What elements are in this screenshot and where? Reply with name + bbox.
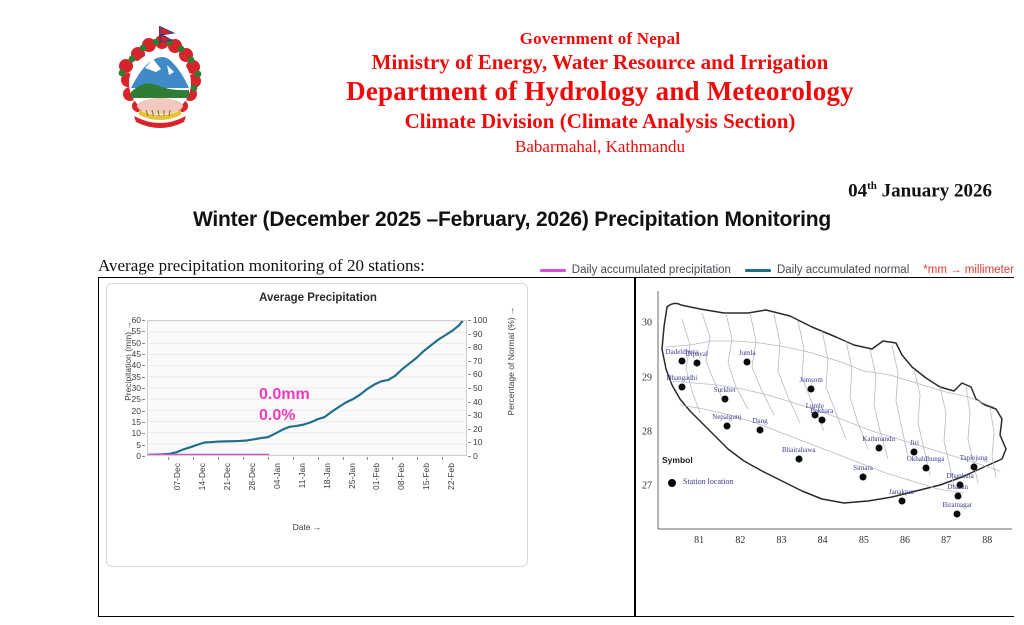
station-label: Jomsom — [799, 376, 822, 384]
org-line-ministry: Ministry of Energy, Water Resource and I… — [250, 49, 950, 75]
station-marker[interactable] — [757, 427, 764, 434]
chart-ytick-right: 100 — [473, 315, 487, 325]
chart-ytick-mark-right — [468, 374, 471, 375]
chart-ytick-right: 0 — [473, 451, 478, 461]
map-xtick-label: 87 — [941, 535, 951, 546]
chart-ytick-mark-right — [468, 429, 471, 430]
station-label: Dhangadhi — [667, 374, 698, 382]
station-label: Dipayal — [686, 350, 708, 358]
nepal-emblem-icon — [112, 22, 208, 142]
org-line-department: Department of Hydrology and Meteorology — [250, 75, 950, 108]
station-label: Surkhet — [714, 386, 736, 394]
chart-xtick-mark — [417, 457, 418, 460]
org-line-division: Climate Division (Climate Analysis Secti… — [250, 108, 950, 135]
frame-divider — [634, 277, 636, 617]
chart-ytick-mark-left — [142, 354, 145, 355]
legend-swatch-normal — [745, 269, 771, 272]
chart-ytick-mark-left — [142, 320, 145, 321]
station-label: Simara — [853, 464, 873, 472]
station-label: Biratnagar — [942, 501, 972, 509]
map-xtick-label: 84 — [818, 535, 828, 546]
map-xtick-label: 83 — [776, 535, 786, 546]
chart-ytick-right: 90 — [473, 329, 482, 339]
station-marker[interactable] — [875, 444, 882, 451]
report-date: 04th January 2026 — [848, 180, 992, 202]
station-marker[interactable] — [795, 455, 802, 462]
map-legend-label: Station location — [683, 477, 733, 486]
chart-ytick-mark-left — [142, 445, 145, 446]
chart-ytick-left: 5 — [136, 440, 141, 450]
chart-ytick-right: 50 — [473, 383, 482, 393]
annotation-percent: 0.0% — [259, 405, 310, 426]
chart-xtick-mark — [343, 457, 344, 460]
chart-xtick-mark — [218, 457, 219, 460]
chart-y-axis-left-title: Precipitation (mm) → — [123, 296, 133, 426]
map-xtick-label: 81 — [694, 535, 704, 546]
chart-xtick-label: 01-Feb — [371, 463, 381, 490]
station-marker[interactable] — [808, 386, 815, 393]
chart-xtick-label: 18-Jan — [322, 463, 332, 489]
station-marker[interactable] — [693, 360, 700, 367]
chart-y-axis-right-title: Percentage of Normal (%) → — [506, 286, 516, 436]
map-legend-title: Symbol — [662, 455, 693, 465]
map-xtick-label: 86 — [900, 535, 910, 546]
annotation-mm: 0.0mm — [259, 384, 310, 405]
report-date-day: 04 — [848, 180, 867, 201]
chart-xtick-mark — [293, 457, 294, 460]
chart-ytick-right: 10 — [473, 437, 482, 447]
chart-xtick-mark — [367, 457, 368, 460]
map-xtick-label: 82 — [735, 535, 745, 546]
station-marker[interactable] — [911, 448, 918, 455]
chart-ytick-mark-left — [142, 399, 145, 400]
legend-item-normal: Daily accumulated normal — [745, 264, 909, 276]
chart-ytick-right: 40 — [473, 397, 482, 407]
station-label: Pokhara — [810, 407, 833, 415]
station-marker[interactable] — [744, 359, 751, 366]
station-marker[interactable] — [721, 396, 728, 403]
station-label: Dhankuta — [947, 472, 974, 480]
chart-ytick-mark-right — [468, 334, 471, 335]
chart-ytick-mark-left — [142, 365, 145, 366]
legend-swatch-precipitation — [540, 269, 566, 272]
station-marker[interactable] — [954, 493, 961, 500]
chart-ytick-mark-right — [468, 347, 471, 348]
legend-label-precipitation: Daily accumulated precipitation — [572, 264, 731, 276]
organization-block: Government of Nepal Ministry of Energy, … — [250, 28, 950, 158]
chart-xtick-mark — [392, 457, 393, 460]
org-line-address: Babarmahal, Kathmandu — [250, 135, 950, 158]
chart-ytick-right: 30 — [473, 410, 482, 420]
stations-summary-label: Average precipitation monitoring of 20 s… — [98, 256, 425, 276]
report-date-suffix: th — [867, 180, 877, 192]
chart-xtick-label: 07-Dec — [172, 463, 182, 490]
chart-ytick-mark-left — [142, 331, 145, 332]
station-marker[interactable] — [898, 498, 905, 505]
chart-ytick-mark-right — [468, 402, 471, 403]
chart-ytick-right: 60 — [473, 369, 482, 379]
unit-note: *mm → millimeter — [923, 264, 1014, 276]
chart-ytick-mark-left — [142, 343, 145, 344]
chart-ytick-mark-left — [142, 388, 145, 389]
chart-ytick-mark-right — [468, 320, 471, 321]
map-xtick-label: 85 — [859, 535, 869, 546]
chart-y-axis-right: 0102030405060708090100 — [468, 314, 508, 462]
station-marker[interactable] — [818, 417, 825, 424]
legend-row: Average precipitation monitoring of 20 s… — [98, 252, 1014, 276]
station-label: Jumla — [739, 349, 756, 357]
map-xtick-label: 88 — [982, 535, 992, 546]
chart-ytick-mark-right — [468, 442, 471, 443]
station-marker[interactable] — [678, 358, 685, 365]
chart-xtick-label: 22-Feb — [446, 463, 456, 490]
chart-xtick-label: 15-Feb — [421, 463, 431, 490]
chart-ytick-mark-right — [468, 415, 471, 416]
station-label: Kathmandu — [862, 435, 895, 443]
chart-ytick-mark-left — [142, 422, 145, 423]
chart-annotation: 0.0mm 0.0% — [259, 384, 310, 426]
chart-xtick-mark — [442, 457, 443, 460]
chart-ytick-right: 20 — [473, 424, 482, 434]
chart-xtick-mark — [168, 457, 169, 460]
chart-xtick-label: 08-Feb — [396, 463, 406, 490]
legend-item-precipitation: Daily accumulated precipitation — [540, 264, 731, 276]
station-marker[interactable] — [723, 423, 730, 430]
chart-xtick-mark — [193, 457, 194, 460]
chart-title: Average Precipitation — [107, 292, 529, 304]
station-marker[interactable] — [970, 463, 977, 470]
chart-ytick-mark-left — [142, 433, 145, 434]
station-label: Jiri — [910, 439, 919, 447]
station-label: Nepalgunj — [712, 413, 741, 421]
chart-ytick-right: 80 — [473, 342, 482, 352]
chart-ytick-mark-right — [468, 388, 471, 389]
chart-xtick-label: 04-Jan — [272, 463, 282, 489]
chart-ytick-mark-left — [142, 411, 145, 412]
chart-xtick-label: 28-Dec — [247, 463, 257, 490]
station-marker[interactable] — [859, 474, 866, 481]
map-ytick-label: 29 — [642, 372, 652, 383]
station-label: Dang — [752, 417, 767, 425]
station-label: Dharan — [947, 483, 968, 491]
station-label: Bhairahawa — [782, 446, 815, 454]
report-date-rest: January 2026 — [877, 180, 992, 201]
chart-xtick-label: 21-Dec — [222, 463, 232, 490]
chart-x-axis-title: Date → — [147, 522, 467, 532]
org-line-government: Government of Nepal — [250, 28, 950, 49]
page-title: Winter (December 2025 –February, 2026) P… — [0, 208, 1024, 232]
station-marker[interactable] — [922, 465, 929, 472]
station-map-panel: Symbol Station location 8182838485868788… — [640, 283, 1018, 567]
station-label: Okhaldhunga — [907, 455, 945, 463]
precipitation-chart-panel: Average Precipitation 051015202530354045… — [106, 283, 528, 567]
chart-xtick-label: 11-Jan — [297, 463, 307, 488]
legend-label-normal: Daily accumulated normal — [777, 264, 909, 276]
station-location-icon — [668, 479, 676, 487]
page-header: Government of Nepal Ministry of Energy, … — [0, 0, 1024, 175]
chart-xtick-mark — [318, 457, 319, 460]
chart-legend: Daily accumulated precipitation Daily ac… — [540, 264, 1014, 276]
map-ytick-label: 28 — [642, 426, 652, 437]
chart-xtick-label: 14-Dec — [197, 463, 207, 490]
station-label: Taplejung — [960, 454, 988, 462]
chart-ytick-left: 10 — [132, 428, 141, 438]
chart-xtick-mark — [268, 457, 269, 460]
chart-ytick-mark-left — [142, 377, 145, 378]
nepal-map-svg — [640, 283, 1018, 567]
chart-x-axis: 07-Dec14-Dec21-Dec28-Dec04-Jan11-Jan18-J… — [147, 457, 467, 517]
chart-xtick-label: 25-Jan — [347, 463, 357, 489]
station-label: Janakpur — [889, 488, 914, 496]
station-marker[interactable] — [678, 383, 685, 390]
chart-ytick-mark-right — [468, 361, 471, 362]
chart-ytick-mark-left — [142, 456, 145, 457]
map-ytick-label: 30 — [642, 318, 652, 329]
chart-ytick-left: 0 — [136, 451, 141, 461]
chart-ytick-mark-right — [468, 456, 471, 457]
station-marker[interactable] — [954, 510, 961, 517]
map-ytick-label: 27 — [642, 480, 652, 491]
chart-ytick-right: 70 — [473, 356, 482, 366]
chart-xtick-mark — [243, 457, 244, 460]
